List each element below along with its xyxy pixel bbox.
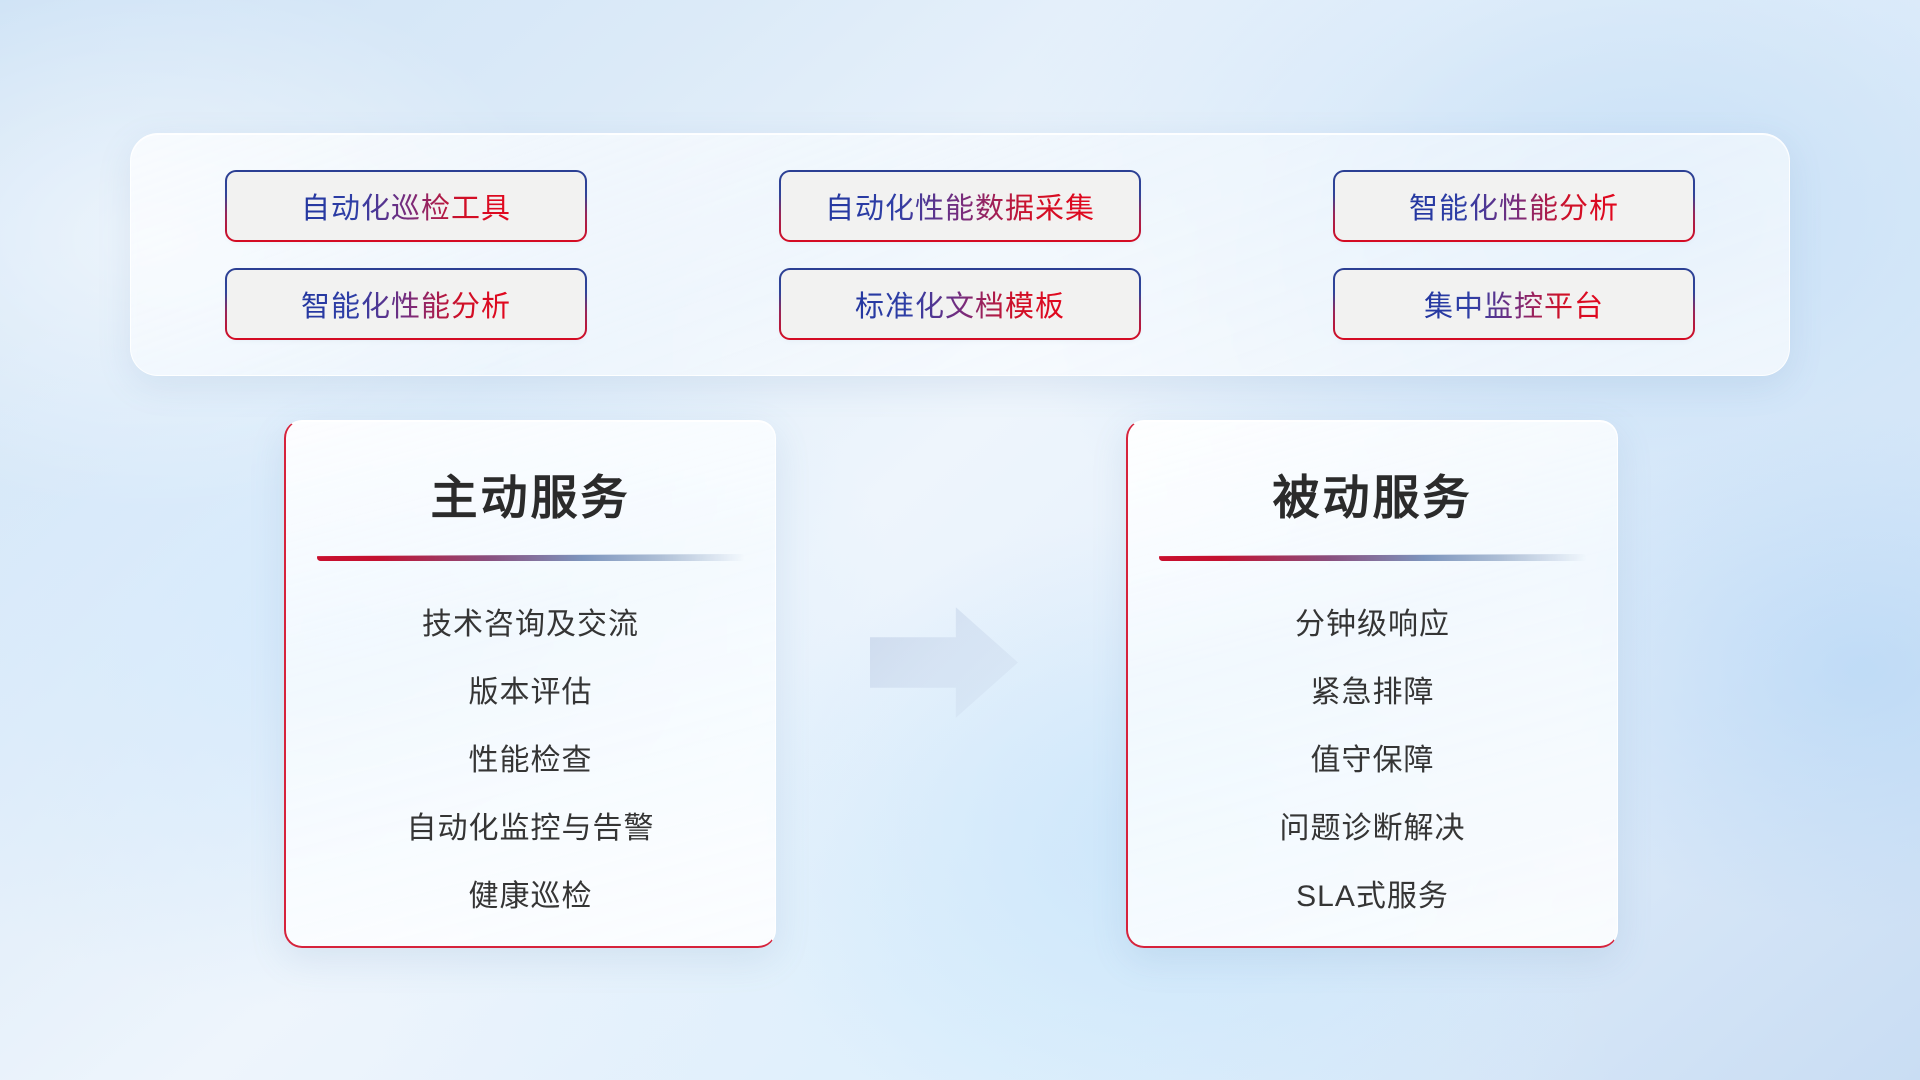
card-item-list-passive: 分钟级响应 紧急排障 值守保障 问题诊断解决 SLA式服务 xyxy=(1128,599,1617,915)
list-item: 版本评估 xyxy=(469,667,593,711)
service-card-passive: 被动服务 分钟级响应 紧急排障 值守保障 问题诊断解决 SLA式服务 xyxy=(1126,420,1618,948)
capability-pill-intelligent-performance-analysis-top[interactable]: 智能化性能分析 xyxy=(1335,172,1693,240)
capability-pill-automated-performance-data-collection[interactable]: 自动化性能数据采集 xyxy=(781,172,1139,240)
capability-pill-label: 智能化性能分析 xyxy=(301,283,511,325)
capability-row-2: 智能化性能分析 标准化文档模板 集中监控平台 xyxy=(131,270,1789,338)
list-item: 紧急排障 xyxy=(1311,667,1435,711)
list-item: 问题诊断解决 xyxy=(1280,803,1466,847)
card-divider-active xyxy=(317,554,745,561)
capability-pill-label: 智能化性能分析 xyxy=(1409,185,1619,227)
list-item: 技术咨询及交流 xyxy=(422,599,639,643)
card-divider-passive xyxy=(1159,554,1587,561)
capability-pill-label: 自动化巡检工具 xyxy=(301,185,511,227)
list-item: 值守保障 xyxy=(1311,735,1435,779)
service-card-active: 主动服务 技术咨询及交流 版本评估 性能检查 自动化监控与告警 健康巡检 xyxy=(284,420,776,948)
arrow-right-icon xyxy=(870,605,1018,720)
list-item: 自动化监控与告警 xyxy=(407,803,655,847)
card-title-active: 主动服务 xyxy=(286,459,775,528)
card-title-passive: 被动服务 xyxy=(1128,459,1617,528)
capability-pill-standardized-document-template[interactable]: 标准化文档模板 xyxy=(781,270,1139,338)
card-item-list-active: 技术咨询及交流 版本评估 性能检查 自动化监控与告警 健康巡检 xyxy=(286,599,775,915)
list-item: 分钟级响应 xyxy=(1295,599,1450,643)
list-item: SLA式服务 xyxy=(1296,871,1449,915)
capability-pill-intelligent-performance-analysis[interactable]: 智能化性能分析 xyxy=(227,270,585,338)
capability-row-1: 自动化巡检工具 自动化性能数据采集 智能化性能分析 xyxy=(131,172,1789,240)
slide-canvas: 自动化巡检工具 自动化性能数据采集 智能化性能分析 智能化性能分析 标准化文档模… xyxy=(0,0,1920,1080)
capability-pill-automation-inspection-tool[interactable]: 自动化巡检工具 xyxy=(227,172,585,240)
capability-pill-centralized-monitoring-platform[interactable]: 集中监控平台 xyxy=(1335,270,1693,338)
capability-pill-label: 自动化性能数据采集 xyxy=(825,185,1095,227)
capability-pill-label: 集中监控平台 xyxy=(1424,283,1604,325)
capability-panel: 自动化巡检工具 自动化性能数据采集 智能化性能分析 智能化性能分析 标准化文档模… xyxy=(130,133,1790,376)
list-item: 健康巡检 xyxy=(469,871,593,915)
capability-pill-label: 标准化文档模板 xyxy=(855,283,1065,325)
list-item: 性能检查 xyxy=(469,735,593,779)
